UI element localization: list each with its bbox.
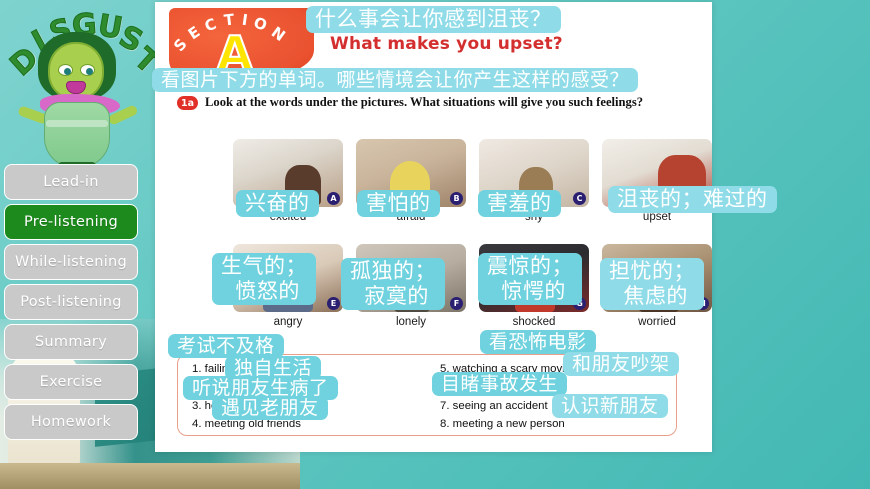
annotation-situation-5-cn: 看恐怖电影 — [480, 330, 596, 354]
annotation-situation-6-cn: 和朋友吵架 — [563, 352, 679, 376]
annotation-word-excited-cn: 兴奋的 — [236, 190, 319, 217]
annotation-task-cn: 看图片下方的单词。哪些情境会让你产生这样的感受？ — [152, 68, 638, 92]
sidebar-item-label: Summary — [35, 334, 107, 350]
picture-label: angry — [233, 316, 343, 328]
task-instruction: Look at the words under the pictures. Wh… — [205, 94, 643, 111]
presentation-slide: D I S G U S T Lead-in Pre-listening — [0, 0, 870, 489]
desk-graphic — [0, 463, 300, 489]
sidebar-item-post-listening[interactable]: Post-listening — [4, 284, 138, 320]
character-face — [48, 42, 104, 100]
sidebar-item-label: Lead-in — [43, 174, 98, 190]
annotation-situation-7-cn: 目睹事故发生 — [432, 372, 567, 396]
picture-label: upset — [602, 211, 712, 223]
annotation-word-shocked-cn: 震惊的； 惊愕的 — [478, 253, 582, 305]
character-dress — [44, 102, 110, 168]
list-item: 8. meeting a new person — [440, 415, 571, 433]
sidebar-item-pre-listening[interactable]: Pre-listening — [4, 204, 138, 240]
page-title: What makes you upset? — [330, 34, 563, 54]
annotation-word-upset-cn: 沮丧的；难过的 — [608, 186, 777, 213]
picture-tag: F — [450, 297, 463, 310]
sidebar-item-label: Pre-listening — [24, 214, 118, 230]
annotation-word-lonely-cn: 孤独的； 寂寞的 — [341, 258, 445, 310]
sidebar-item-label: While-listening — [15, 254, 127, 270]
sidebar-item-while-listening[interactable]: While-listening — [4, 244, 138, 280]
task-1a: 1a Look at the words under the pictures.… — [177, 94, 692, 111]
picture-tag: A — [327, 192, 340, 205]
annotation-word-worried-cn: 担忧的； 焦虑的 — [600, 258, 704, 310]
annotation-word-afraid-cn: 害怕的 — [357, 190, 440, 217]
annotation-word-shy-cn: 害羞的 — [478, 190, 561, 217]
annotation-situation-4-cn: 遇见老朋友 — [212, 396, 328, 420]
character-eye-right — [80, 64, 95, 76]
sidebar-item-lead-in[interactable]: Lead-in — [4, 164, 138, 200]
character-eye-left — [58, 64, 73, 76]
lesson-navigation: Lead-in Pre-listening While-listening Po… — [4, 164, 138, 444]
sidebar-item-label: Homework — [31, 414, 111, 430]
annotation-title-cn: 什么事会让你感到沮丧？ — [306, 6, 561, 33]
annotation-word-angry-cn: 生气的； 愤怒的 — [212, 253, 316, 305]
character-belt — [46, 120, 108, 127]
picture-tag: B — [450, 192, 463, 205]
task-number-badge: 1a — [177, 96, 198, 110]
sidebar-item-exercise[interactable]: Exercise — [4, 364, 138, 400]
character-mouth — [66, 81, 86, 94]
picture-label: lonely — [356, 316, 466, 328]
picture-tag: C — [573, 192, 586, 205]
sidebar-item-label: Post-listening — [20, 294, 122, 310]
sidebar-item-label: Exercise — [40, 374, 103, 390]
picture-tag: E — [327, 297, 340, 310]
sidebar-item-homework[interactable]: Homework — [4, 404, 138, 440]
picture-label: worried — [602, 316, 712, 328]
sidebar-item-summary[interactable]: Summary — [4, 324, 138, 360]
annotation-situation-8-cn: 认识新朋友 — [552, 394, 668, 418]
annotation-situation-1-cn: 考试不及格 — [168, 334, 284, 358]
picture-label: shocked — [479, 316, 589, 328]
